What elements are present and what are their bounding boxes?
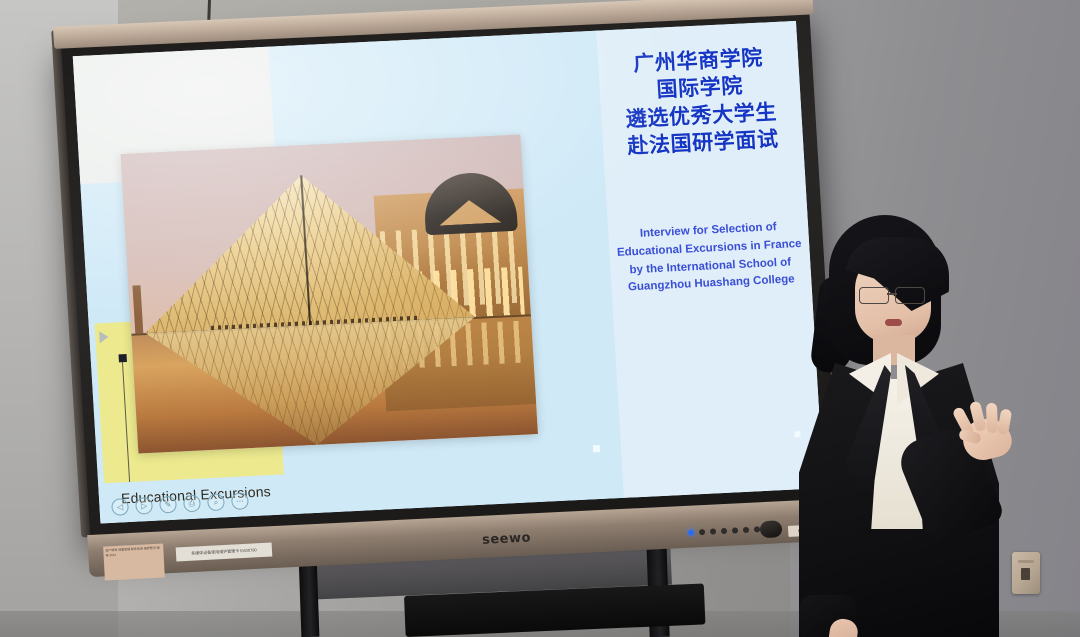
glasses-lens-right bbox=[895, 287, 925, 304]
gesturing-hand bbox=[955, 403, 1017, 461]
annotation-pin-marker[interactable] bbox=[119, 354, 127, 362]
slide-subtitle-english: Interview for Selection of Educational E… bbox=[604, 217, 816, 298]
play-arrow-icon[interactable] bbox=[99, 331, 109, 343]
display-button-5[interactable] bbox=[743, 527, 749, 533]
interactive-flat-panel[interactable]: Educational Excursions 广州华商学院 国际学院 遴选优秀大… bbox=[58, 7, 839, 543]
stand-leg-left bbox=[299, 556, 320, 637]
display-screen[interactable]: Educational Excursions 广州华商学院 国际学院 遴选优秀大… bbox=[73, 21, 824, 524]
display-button-4[interactable] bbox=[732, 527, 738, 533]
glasses-lens-left bbox=[859, 287, 889, 304]
mouth bbox=[885, 319, 902, 326]
glasses-bridge bbox=[887, 293, 897, 295]
seewo-logo: seewo bbox=[482, 530, 532, 547]
play-icon[interactable]: ▷ bbox=[135, 497, 153, 515]
louvre-pyramid-photo bbox=[121, 135, 538, 454]
search-icon[interactable]: ⌕ bbox=[207, 493, 225, 511]
more-icon[interactable]: ⋯ bbox=[231, 492, 249, 510]
slide-marker-dot-left bbox=[593, 445, 600, 452]
speaker-icon[interactable]: ◁ bbox=[111, 498, 129, 516]
asset-sticker-left: 资产编号 设备管理 联系电话 报修登记 编号 0012 bbox=[103, 543, 165, 580]
display-button-2[interactable] bbox=[710, 528, 716, 534]
glasses-icon bbox=[859, 287, 931, 303]
finger-3 bbox=[986, 403, 998, 433]
presentation-slide[interactable]: Educational Excursions 广州华商学院 国际学院 遴选优秀大… bbox=[73, 21, 824, 524]
lock-icon[interactable]: ⎙ bbox=[183, 495, 201, 513]
presenter bbox=[793, 215, 1021, 637]
finger-4 bbox=[997, 408, 1012, 435]
slide-title-chinese: 广州华商学院 国际学院 遴选优秀大学生 赴法国研学面试 bbox=[597, 43, 803, 162]
power-led-indicator bbox=[688, 529, 694, 535]
display-button-1[interactable] bbox=[699, 529, 705, 535]
display-button-3[interactable] bbox=[721, 528, 727, 534]
pen-icon[interactable]: ✎ bbox=[159, 496, 177, 514]
screenshot-scene: Educational Excursions 广州华商学院 国际学院 遴选优秀大… bbox=[0, 0, 1080, 637]
